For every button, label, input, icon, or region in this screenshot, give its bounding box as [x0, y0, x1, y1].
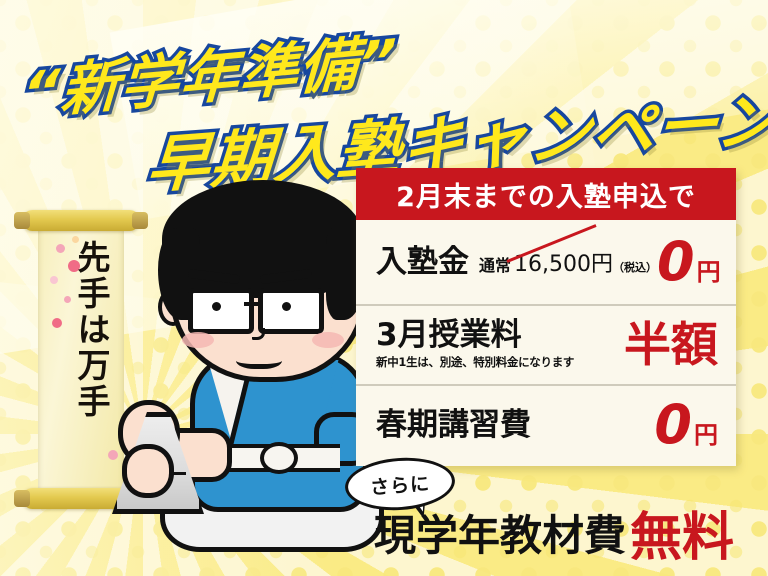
price-unit: 円: [697, 252, 721, 287]
price-value: 0: [654, 401, 692, 450]
price-row: 入塾金 通常 16,500円 （税込） 0 円: [356, 220, 736, 304]
price-row: 3月授業料 新中1生は、別途、特別料金になります 半額: [356, 304, 736, 386]
scroll-proverb-text: 先手は万手: [56, 240, 108, 420]
bottom-offer-label: 現学年教材費: [374, 502, 626, 563]
glasses-lens-left: [188, 288, 254, 334]
row-note: 新中1生は、別途、特別料金になります: [376, 354, 574, 370]
glasses-lens-right: [258, 288, 324, 334]
mouth-smile: [236, 348, 282, 369]
speech-bubble-text: さらに: [369, 468, 431, 499]
row-label-wrap: 3月授業料 新中1生は、別途、特別料金になります: [376, 320, 574, 370]
price-word: 半額: [624, 322, 718, 369]
cheek-blush-left: [182, 332, 214, 348]
character-illustration: [118, 176, 386, 576]
old-price-group: 通常 16,500円 （税込）: [479, 246, 657, 278]
obi-knot: [260, 442, 298, 474]
price-rows: 入塾金 通常 16,500円 （税込） 0 円 3月授業料 新中1生は、別途、特…: [356, 220, 736, 466]
row-label-wrap: 春期講習費: [376, 410, 531, 441]
tax-included-label: （税込）: [613, 259, 657, 275]
price-row: 春期講習費 0 円: [356, 386, 736, 464]
row-label: 春期講習費: [376, 410, 531, 441]
row-price: 0 円: [654, 401, 718, 450]
scroll-knob-left: [14, 212, 30, 229]
price-value: 0: [657, 238, 695, 287]
cheek-blush-right: [312, 332, 344, 348]
glasses-bridge: [244, 302, 258, 306]
normal-price-label: 通常: [479, 252, 511, 276]
row-price: 半額: [624, 322, 718, 369]
pupil-right: [282, 302, 291, 311]
row-label: 3月授業料: [376, 320, 574, 351]
price-unit: 円: [694, 415, 718, 450]
panel-header-text: 2月末までの入塾申込で: [396, 175, 696, 214]
sakura-petal-icon: [108, 450, 118, 460]
bottom-offer-line: 現学年教材費 無料: [374, 500, 734, 564]
panel-header-banner: 2月末までの入塾申込で: [356, 168, 736, 220]
scroll-knob-left: [14, 490, 30, 507]
hand-lower: [122, 444, 174, 498]
bottom-offer-highlight: 無料: [630, 495, 734, 570]
row-label-wrap: 入塾金: [376, 247, 469, 278]
row-price: 0 円: [657, 238, 721, 287]
price-panel: 2月末までの入塾申込で 入塾金 通常 16,500円 （税込） 0 円: [356, 168, 736, 466]
row-label: 入塾金: [376, 247, 469, 278]
campaign-banner: “新学年準備” 早期入塾キャンペーン 先手は万手: [0, 0, 768, 576]
pupil-left: [212, 302, 221, 311]
